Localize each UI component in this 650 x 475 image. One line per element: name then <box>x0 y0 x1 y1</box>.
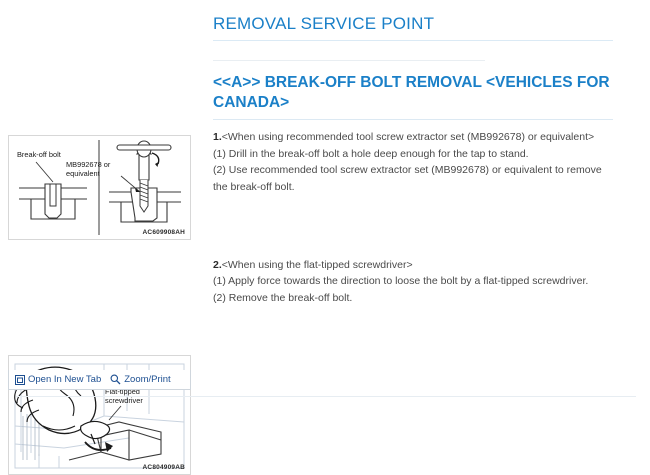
footer-divider <box>16 396 636 397</box>
figure-1-drawing: Break-off bolt <box>9 136 190 239</box>
step-1-number: 1. <box>213 131 222 143</box>
title-divider <box>213 40 613 41</box>
document-page: REMOVAL SERVICE POINT <<A>> BREAK-OFF BO… <box>0 0 650 403</box>
magnifier-icon <box>110 374 121 385</box>
new-window-icon <box>15 375 25 385</box>
figure-1-label-right-line1: MB992678 or <box>66 160 111 169</box>
step-2-block: 2.<When using the flat-tipped screwdrive… <box>213 195 613 306</box>
figure-break-off-bolt[interactable]: Break-off bolt <box>8 135 191 240</box>
step-1-line-1: (1) Drill in the break-off bolt a hole d… <box>213 146 613 162</box>
step-2-number: 2. <box>213 259 222 271</box>
figure-1-label-left: Break-off bolt <box>17 150 61 159</box>
page-title: REMOVAL SERVICE POINT <box>213 0 633 40</box>
step-1-line-2: (2) Use recommended tool screw extractor… <box>213 162 613 195</box>
zoom-print-label: Zoom/Print <box>124 374 170 385</box>
image-toolbar: Open In New Tab Zoom/Print <box>8 370 191 390</box>
step-1-title-text: <When using recommended tool screw extra… <box>222 131 594 143</box>
section-heading: <<A>> BREAK-OFF BOLT REMOVAL <VEHICLES F… <box>213 61 618 114</box>
figure-2-label-line2: screwdriver <box>105 396 143 405</box>
step-1-title: 1.<When using recommended tool screw ext… <box>213 129 613 145</box>
figure-1-code: AC609908AH <box>143 229 185 236</box>
content-column: REMOVAL SERVICE POINT <<A>> BREAK-OFF BO… <box>213 0 633 306</box>
figure-1-label-right-line2: equivalent <box>66 169 100 178</box>
step-2-line-2: (2) Remove the break-off bolt. <box>213 290 613 306</box>
figure-2-code: AC804909AB <box>143 464 185 471</box>
open-in-new-tab-label: Open In New Tab <box>28 374 101 385</box>
open-in-new-tab-button[interactable]: Open In New Tab <box>15 374 101 385</box>
zoom-print-button[interactable]: Zoom/Print <box>110 374 170 385</box>
step-1-block: 1.<When using recommended tool screw ext… <box>213 120 613 195</box>
step-2-title-text: <When using the flat-tipped screwdriver> <box>222 259 413 271</box>
step-2-line-1: (1) Apply force towards the direction to… <box>213 273 613 289</box>
step-2-title: 2.<When using the flat-tipped screwdrive… <box>213 257 613 273</box>
